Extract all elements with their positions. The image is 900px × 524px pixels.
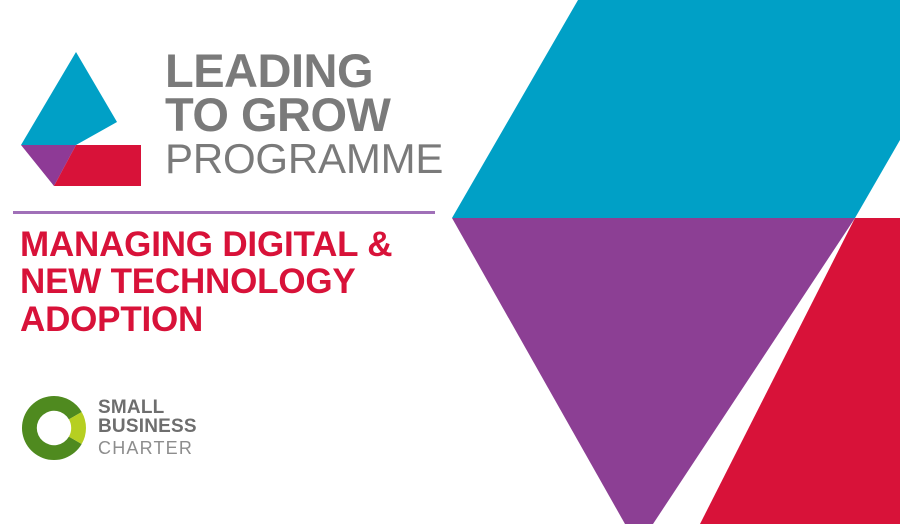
headline-line-2: NEW TECHNOLOGY (20, 263, 460, 300)
small-business-charter-lockup: SMALL BUSINESS CHARTER (20, 394, 230, 472)
headline-line-1: MANAGING DIGITAL & (20, 226, 460, 263)
headline-line-3: ADOPTION (20, 301, 460, 338)
wordmark-line-3: PROGRAMME (165, 139, 465, 178)
left-content-panel: LEADING TO GROW PROGRAMME MANAGING DIGIT… (0, 0, 460, 524)
poster-canvas: LEADING TO GROW PROGRAMME MANAGING DIGIT… (0, 0, 900, 524)
crimson-shape (700, 218, 900, 524)
wordmark-line-1: LEADING (165, 49, 465, 93)
small-business-charter-wordmark: SMALL BUSINESS CHARTER (98, 398, 228, 457)
page-title: MANAGING DIGITAL & NEW TECHNOLOGY ADOPTI… (20, 226, 460, 338)
divider-rule (13, 211, 435, 214)
sbc-line-3: CHARTER (98, 439, 228, 457)
purple-triangle (452, 218, 855, 524)
cyan-parallelogram (452, 0, 900, 218)
small-business-charter-c-icon (20, 394, 88, 462)
wordmark-line-2: TO GROW (165, 93, 465, 137)
leading-to-grow-mark-icon (13, 52, 149, 197)
sbc-line-2: BUSINESS (98, 417, 228, 436)
leading-to-grow-wordmark: LEADING TO GROW PROGRAMME (165, 49, 465, 179)
mark-cyan-rhombus (21, 52, 117, 145)
leading-to-grow-lockup: LEADING TO GROW PROGRAMME (13, 52, 443, 197)
sbc-line-1: SMALL (98, 398, 228, 417)
